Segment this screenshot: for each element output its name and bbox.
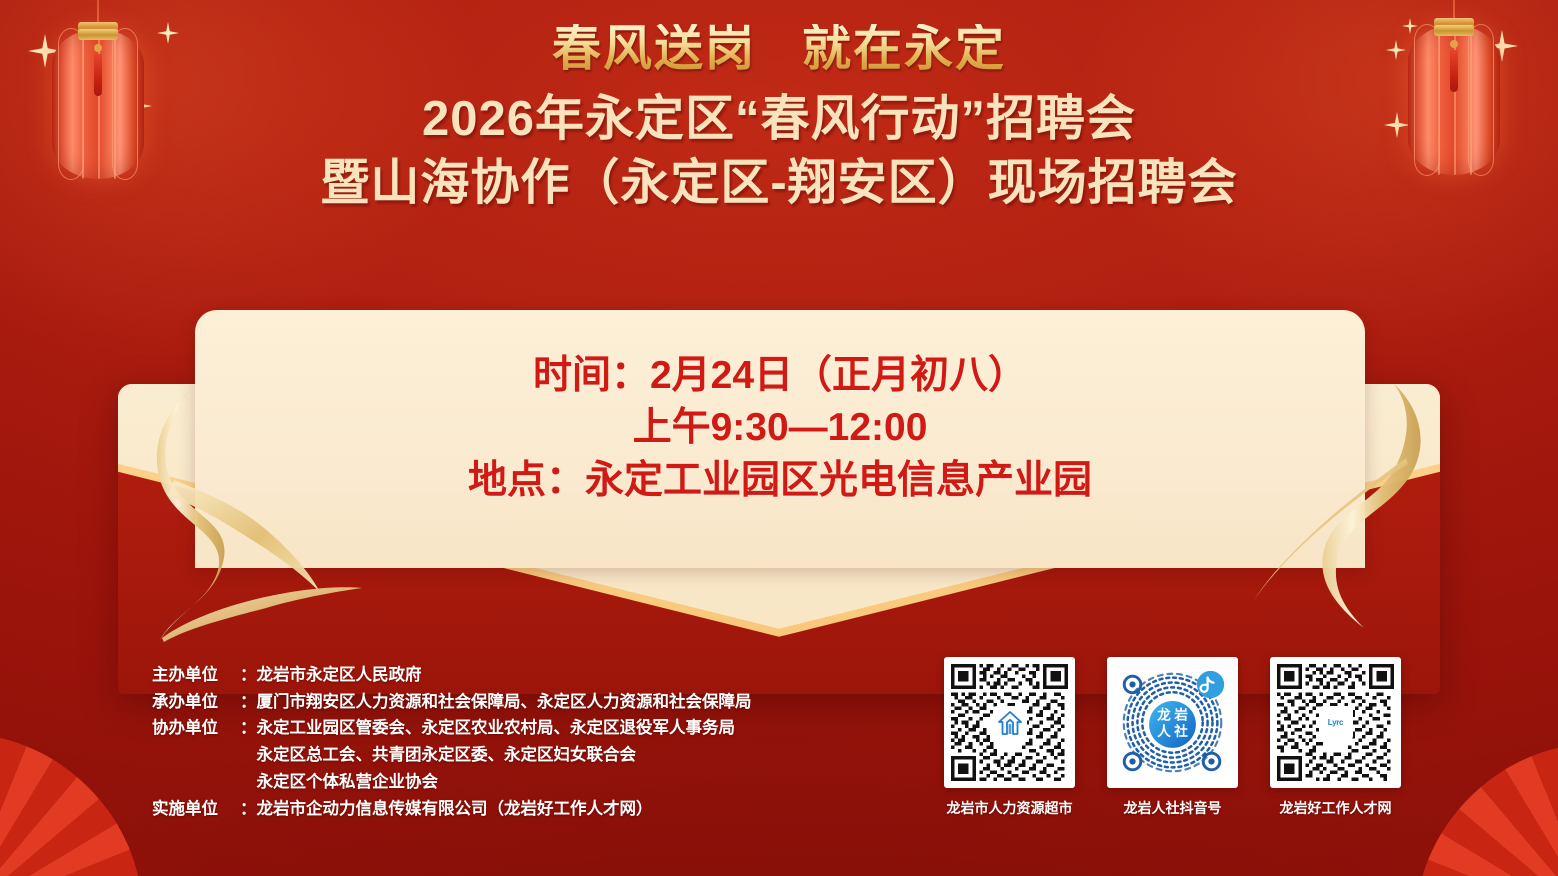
organizer-label: 协办单位 xyxy=(152,715,240,742)
event-time: 时间：2月24日（正月初八） xyxy=(195,350,1365,402)
house-icon xyxy=(993,706,1027,740)
organizer-list: 主办单位 ： 龙岩市永定区人民政府 承办单位 ： 厦门市翔安区人力资源和社会保障… xyxy=(152,662,852,822)
event-place: 地点：永定工业园区光电信息产业园 xyxy=(195,455,1365,507)
organizer-value: 永定区总工会、共青团永定区委、永定区妇女联合会 xyxy=(257,742,853,769)
qr-code-box[interactable]: Lyrc xyxy=(1270,657,1401,788)
qr-item-renli[interactable]: 龙岩市人力资源超市 xyxy=(944,657,1075,818)
organizer-value: 龙岩市永定区人民政府 xyxy=(257,662,853,689)
qr-code-image-douyin: 龙 岩 人 社 xyxy=(1114,664,1231,781)
tagline-right: 就在永定 xyxy=(802,21,1006,76)
organizer-row: 主办单位 ： 龙岩市永定区人民政府 xyxy=(152,662,852,689)
qr-caption: 龙岩人社抖音号 xyxy=(1107,798,1238,818)
organizer-label: 主办单位 xyxy=(152,662,240,689)
qr-code-strip: 龙岩市人力资源超市 xyxy=(944,657,1401,818)
organizer-label: 承办单位 xyxy=(152,689,240,716)
qr-code-box[interactable]: 龙 岩 人 社 xyxy=(1107,657,1238,788)
poster-title-line1: 2026年永定区“春风行动”招聘会 xyxy=(0,91,1558,149)
paper-fan-icon-left xyxy=(0,722,154,876)
svg-text:人 社: 人 社 xyxy=(1157,723,1188,739)
organizer-colon: ： xyxy=(240,662,257,689)
organizer-row: 协办单位 ： 永定工业园区管委会、永定区农业农村局、永定区退役军人事务局 xyxy=(152,715,852,742)
organizer-row-continued: 协办单位 ： 永定区总工会、共青团永定区委、永定区妇女联合会 xyxy=(152,742,852,769)
organizer-value: 永定工业园区管委会、永定区农业农村局、永定区退役军人事务局 xyxy=(257,715,853,742)
tagline-left: 春风送岗 xyxy=(552,21,756,76)
qr-caption: 龙岩市人力资源超市 xyxy=(944,798,1075,818)
organizer-value: 龙岩市企动力信息传媒有限公司（龙岩好工作人才网） xyxy=(257,796,853,823)
qr-code-box[interactable] xyxy=(944,657,1075,788)
lyrc-logo-text: Lyrc xyxy=(1328,718,1343,727)
event-info-panel: 时间：2月24日（正月初八） 上午9:30—12:00 地点：永定工业园区光电信… xyxy=(195,310,1365,568)
organizer-colon: ： xyxy=(240,689,257,716)
poster-tagline: 春风送岗就在永定 xyxy=(552,24,1006,73)
organizer-row: 承办单位 ： 厦门市翔安区人力资源和社会保障局、永定区人力资源和社会保障局 xyxy=(152,689,852,716)
organizer-value: 永定区个体私营企业协会 xyxy=(257,769,853,796)
organizer-value: 厦门市翔安区人力资源和社会保障局、永定区人力资源和社会保障局 xyxy=(257,689,853,716)
event-hours: 上午9:30—12:00 xyxy=(195,402,1365,454)
recruitment-poster: 春风送岗就在永定 2026年永定区“春风行动”招聘会 暨山海协作（永定区-翔安区… xyxy=(0,0,1558,876)
qr-item-talentnet[interactable]: Lyrc 龙岩好工作人才网 xyxy=(1270,657,1401,818)
qr-item-douyin[interactable]: 龙 岩 人 社 龙岩人社抖音号 xyxy=(1107,657,1238,818)
organizer-row: 实施单位 ： 龙岩市企动力信息传媒有限公司（龙岩好工作人才网） xyxy=(152,796,852,823)
organizer-label: 实施单位 xyxy=(152,796,240,823)
headline-block: 春风送岗就在永定 2026年永定区“春风行动”招聘会 暨山海协作（永定区-翔安区… xyxy=(0,0,1558,213)
organizer-row-continued: 协办单位 ： 永定区个体私营企业协会 xyxy=(152,769,852,796)
poster-title-line2: 暨山海协作（永定区-翔安区）现场招聘会 xyxy=(0,155,1558,213)
organizer-colon: ： xyxy=(240,796,257,823)
organizer-colon: ： xyxy=(240,715,257,742)
paper-fan-icon-right xyxy=(1404,732,1558,876)
house-icon-glyph xyxy=(996,709,1024,737)
qr-caption: 龙岩好工作人才网 xyxy=(1270,798,1401,818)
lyrc-logo: Lyrc xyxy=(1319,706,1353,740)
svg-text:龙 岩: 龙 岩 xyxy=(1156,707,1188,723)
